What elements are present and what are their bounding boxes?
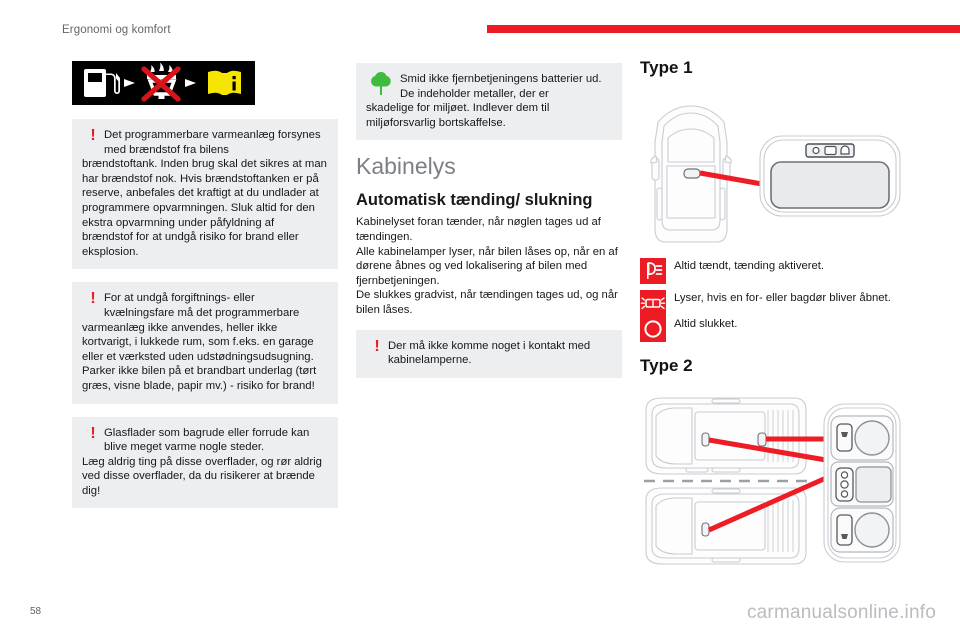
type2-title: Type 2 — [640, 356, 906, 376]
legend-text: Altid tændt, tænding aktiveret. — [674, 258, 824, 274]
warning-lead-block: ! Glasflader som bagrude eller forrude k… — [82, 426, 328, 455]
door-open-lamp-icon — [841, 481, 848, 488]
manual-book-icon — [208, 71, 241, 95]
lamp-always-on-icon — [825, 147, 836, 155]
warning-lead-text: Det programmerbare varmeanlæg forsynes m… — [104, 128, 328, 157]
chapter-title: Ergonomi og komfort — [62, 24, 171, 36]
warning-note-lamps: ! Der må ikke komme noget i kontakt med … — [356, 330, 622, 378]
type1-illustration — [640, 84, 906, 252]
warning-lead-text: Glasflader som bagrude eller forrude kan… — [104, 426, 328, 455]
front-lamp-marker — [702, 523, 709, 536]
mirror-location-marker — [684, 169, 700, 178]
paragraph: Alle kabinelamper lyser, når bilen låses… — [356, 245, 622, 289]
mirror-control-strip — [806, 144, 854, 157]
type1-illustration-svg — [640, 84, 906, 252]
car-top-view-upper — [646, 398, 806, 474]
paragraph: De slukkes gradvist, når tændingen tages… — [356, 288, 622, 317]
warning-lead-block: ! Det programmerbare varmeanlæg forsynes… — [82, 128, 328, 157]
warning-bang-icon: ! — [86, 291, 100, 306]
dome-lamp-rear — [855, 513, 889, 547]
lamp-off-circle-icon — [813, 148, 819, 154]
paragraph: Kabinelyset foran tænder, når nøglen tag… — [356, 215, 622, 244]
watermark: carmanualsonline.info — [747, 602, 936, 624]
reading-lamp-switch-rear — [837, 515, 852, 545]
eco-lead-text: Smid ikke fjernbetjeningens batterier ud… — [400, 72, 612, 101]
lamp-always-on-icon — [640, 258, 666, 284]
front-lamp-marker — [702, 433, 709, 446]
fuel-no-flame-manual-banner — [72, 61, 255, 105]
legend-row: Lyser, hvis en for- eller bagdør bliver … — [640, 290, 906, 316]
warning-note-fuel: ! Det programmerbare varmeanlæg forsynes… — [72, 119, 338, 269]
legend-row: Altid slukket. — [640, 316, 906, 342]
no-flame-icon — [144, 63, 178, 100]
warning-lead-block: ! For at undgå forgiftnings- eller kvæln… — [82, 291, 328, 320]
warning-body-text: Læg aldrig ting på disse overflader, og … — [82, 455, 328, 499]
green-tree-icon — [368, 71, 394, 97]
column-left: ! Det programmerbare varmeanlæg forsynes… — [72, 58, 338, 521]
arrow-right-icon — [124, 79, 135, 87]
warning-lead-text: Der må ikke komme noget i kontakt med ka… — [388, 339, 612, 368]
header-rule — [487, 25, 960, 33]
legend-text: Altid slukket. — [674, 316, 737, 332]
rear-lamp-marker — [758, 433, 766, 446]
body-paragraphs: Kabinelyset foran tænder, når nøglen tag… — [356, 215, 622, 317]
eco-lead-block: Smid ikke fjernbetjeningens batterier ud… — [366, 72, 612, 101]
warning-bang-icon: ! — [86, 426, 100, 441]
type2-illustration-svg — [640, 382, 906, 567]
manual-page: Ergonomi og komfort — [0, 0, 960, 640]
column-right: Type 1 — [640, 58, 906, 567]
warning-lead-text: For at undgå forgiftnings- eller kvælnin… — [104, 291, 328, 320]
console-panel — [856, 467, 891, 502]
type1-title: Type 1 — [640, 58, 906, 78]
type1-legend: Altid tændt, tænding aktiveret. — [640, 258, 906, 342]
warning-note-poison: ! For at undgå forgiftnings- eller kvæln… — [72, 282, 338, 403]
legend-text: Lyser, hvis en for- eller bagdør bliver … — [674, 290, 891, 306]
section-title-kabinelys: Kabinelys — [356, 153, 622, 180]
door-open-lamp-icon — [841, 146, 849, 154]
eco-note-battery: Smid ikke fjernbetjeningens batterier ud… — [356, 63, 622, 140]
pictogram-svg — [72, 61, 255, 105]
legend-row: Altid tændt, tænding aktiveret. — [640, 258, 906, 284]
lamp-always-on-icon — [841, 472, 847, 478]
warning-bang-icon: ! — [86, 128, 100, 143]
column-middle: Smid ikke fjernbetjeningens batterier ud… — [356, 58, 622, 391]
warning-body-text: varmeanlæg ikke anvendes, heller ikke ko… — [82, 321, 328, 394]
warning-lead-block: ! Der må ikke komme noget i kontakt med … — [366, 339, 612, 368]
warning-note-glass: ! Glasflader som bagrude eller forrude k… — [72, 417, 338, 509]
lamp-off-circle-icon — [841, 491, 847, 497]
reading-lamp-switch-front — [837, 424, 852, 451]
page-number: 58 — [30, 606, 41, 617]
dome-lamp-front — [855, 421, 889, 455]
mirror-glass — [771, 162, 889, 208]
warning-body-text: brændstoftank. Inden brug skal det sikre… — [82, 157, 328, 259]
arrow-right-icon — [185, 79, 196, 87]
eco-body-text: skadelige for miljøet. Indlever dem til … — [366, 101, 612, 130]
lamp-off-circle-icon — [640, 316, 666, 342]
subsection-title-auto: Automatisk tænding/ slukning — [356, 191, 622, 210]
warning-bang-icon: ! — [370, 339, 384, 354]
fuel-pump-icon — [84, 69, 120, 97]
door-open-lamp-icon — [640, 290, 666, 316]
type2-illustration — [640, 382, 906, 567]
